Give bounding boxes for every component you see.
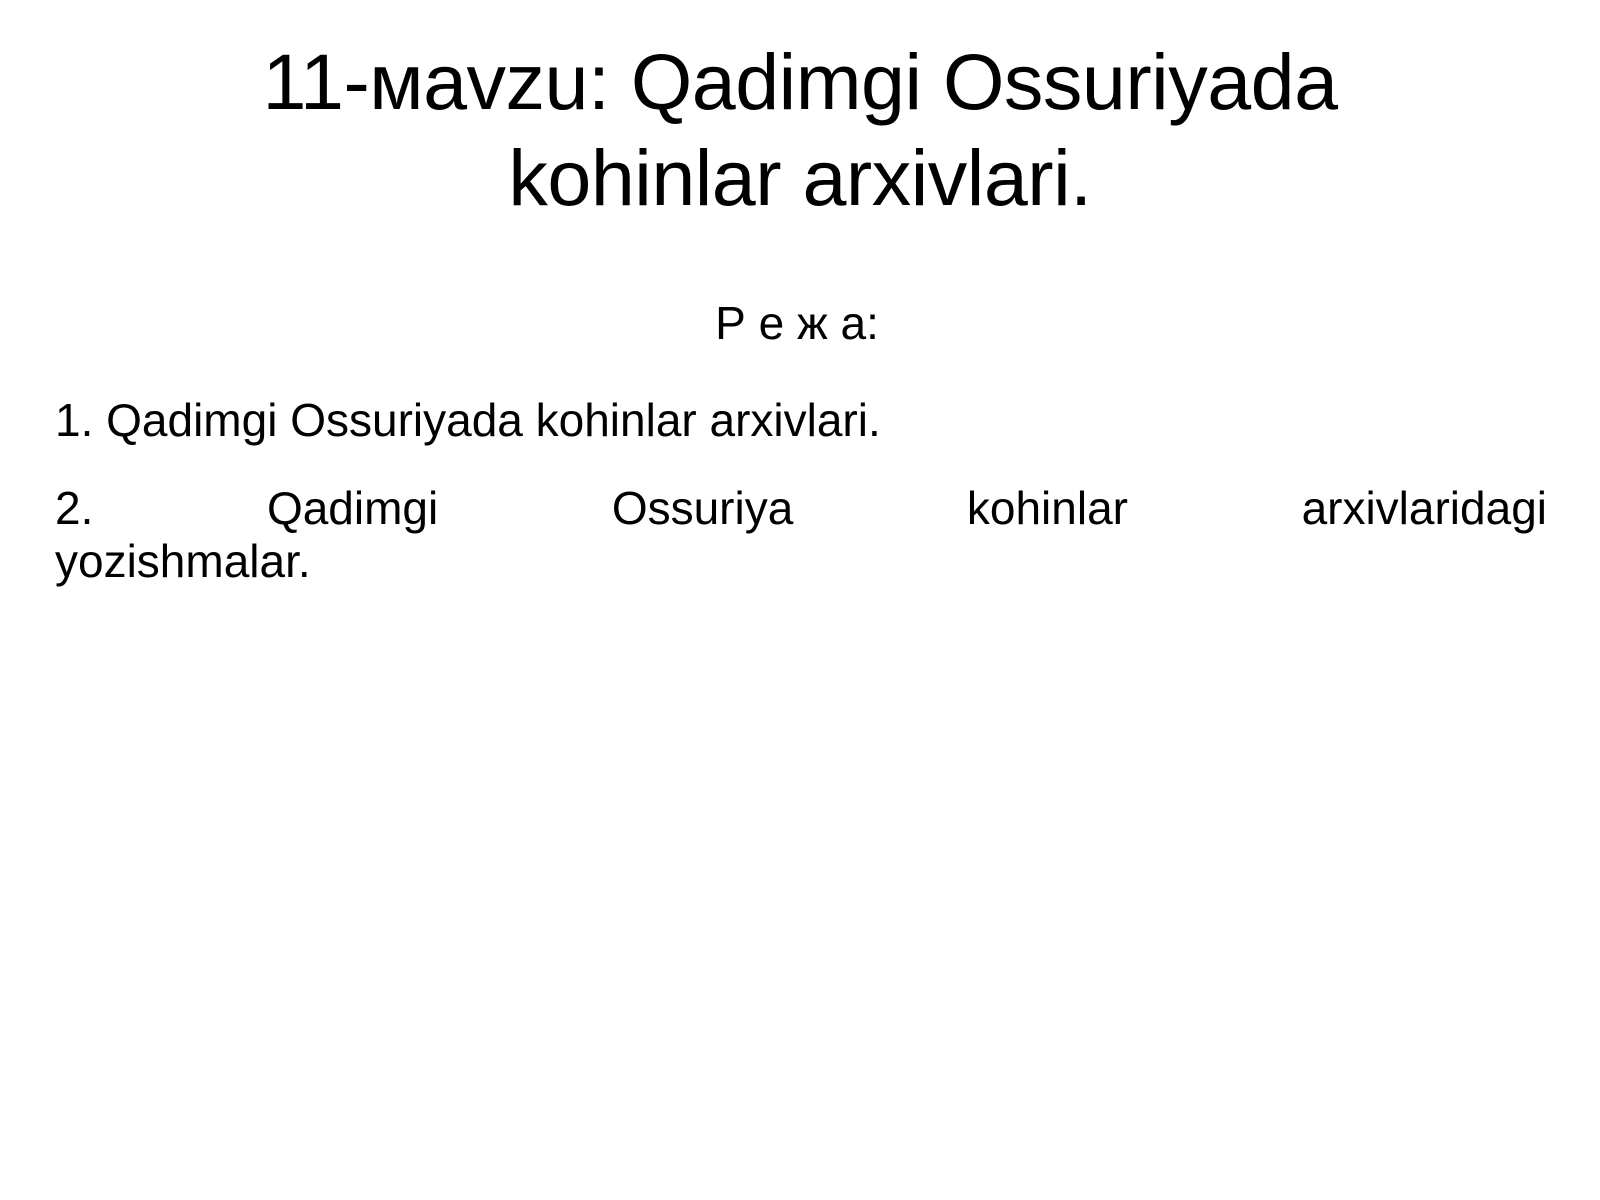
slide-title-line-1: 11-мavzu: Qadimgi Ossuriyada — [130, 34, 1470, 130]
plan-item-2-line-1: 2. Qadimgi Ossuriya kohinlar arxivlarida… — [55, 482, 1547, 535]
presentation-slide: 11-мavzu: Qadimgi Ossuriyada kohinlar ar… — [0, 0, 1600, 1200]
plan-item-2: 2. Qadimgi Ossuriya kohinlar arxivlarida… — [55, 482, 1547, 589]
slide-title-line-2: kohinlar arxivlari. — [130, 130, 1470, 226]
plan-item-1: 1. Qadimgi Ossuriyada kohinlar arxivlari… — [55, 394, 1547, 447]
slide-title: 11-мavzu: Qadimgi Ossuriyada kohinlar ar… — [130, 34, 1470, 227]
plan-item-2-line-2: yozishmalar. — [55, 535, 1547, 588]
reja-heading: Р е ж а: — [55, 296, 1547, 350]
slide-body: Р е ж а: 1. Qadimgi Ossuriyada kohinlar … — [55, 296, 1547, 588]
